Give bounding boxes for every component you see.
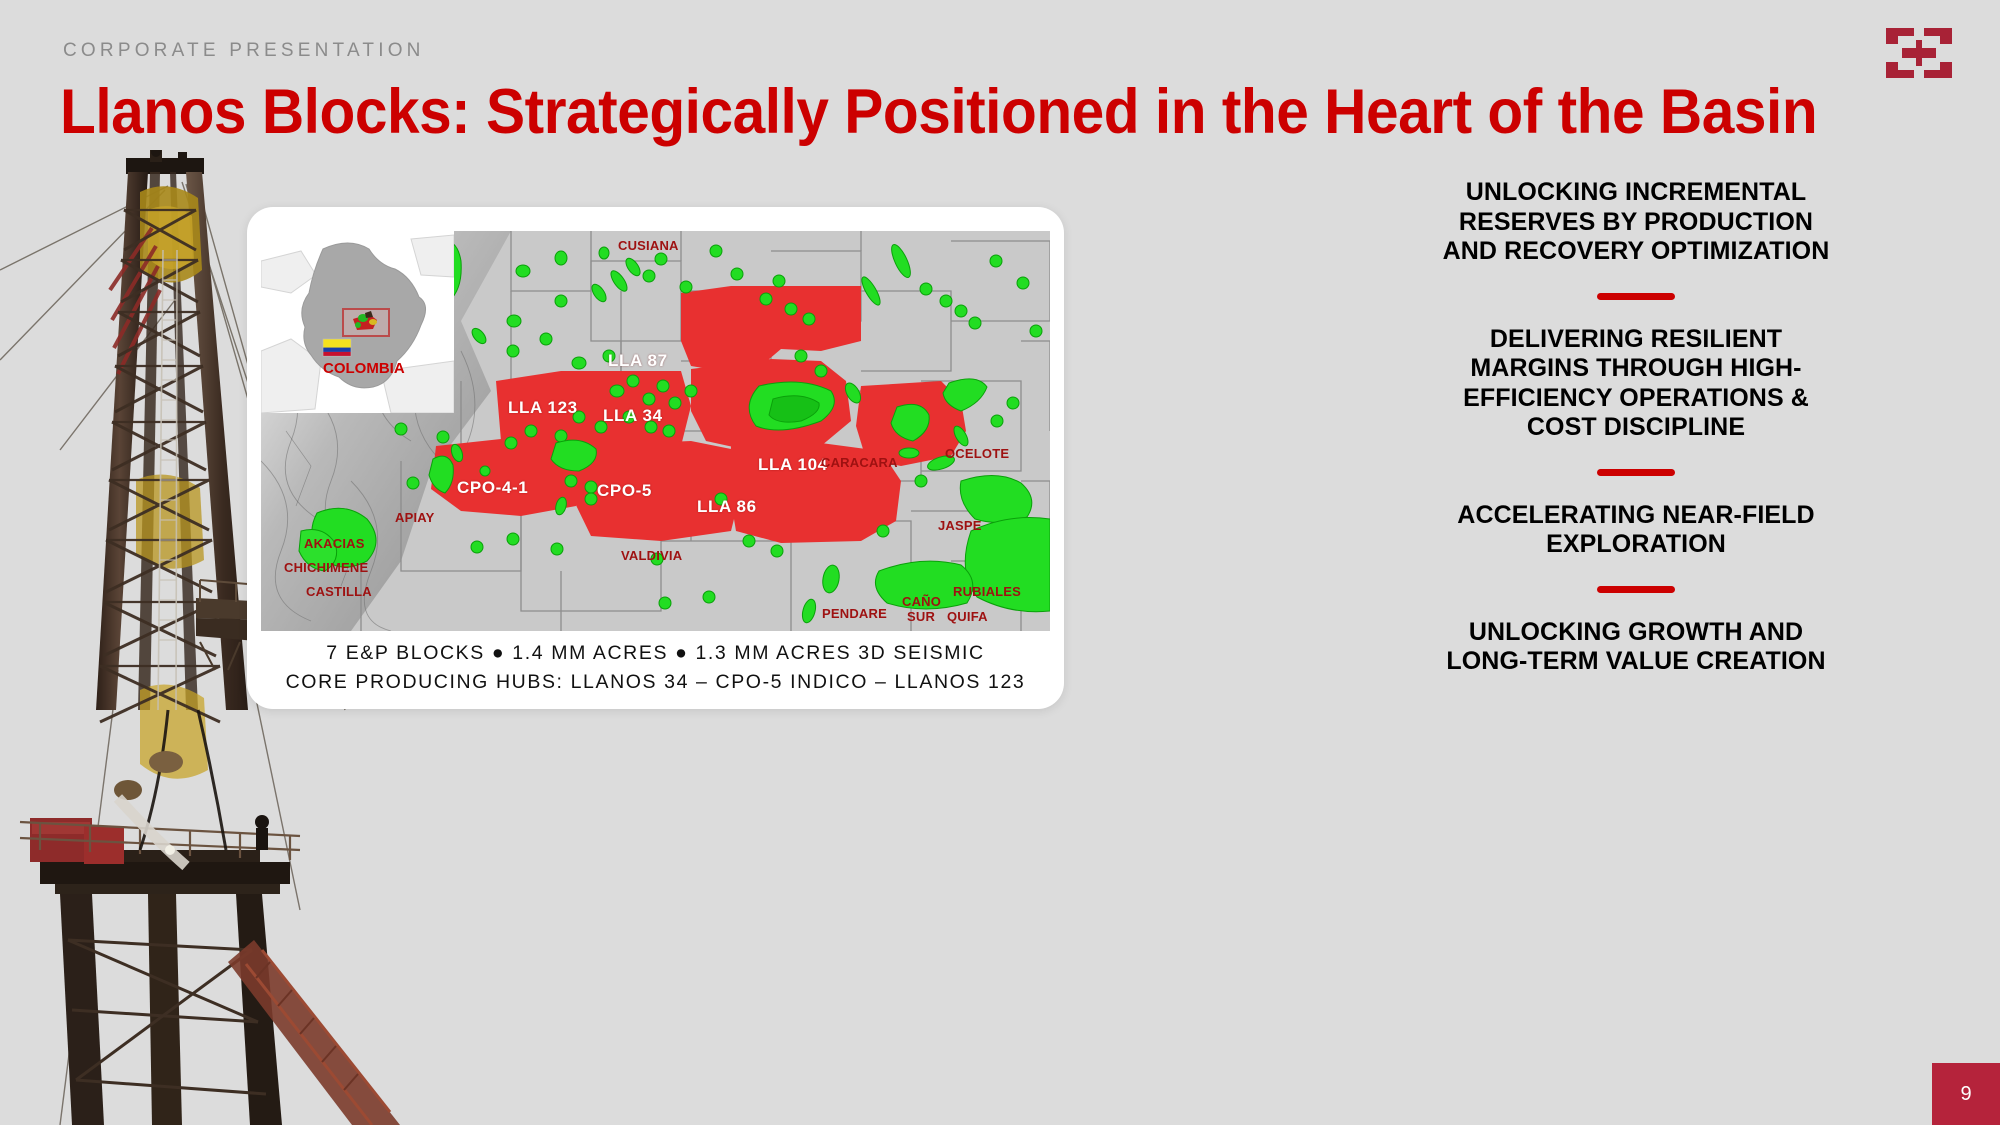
pillar-divider-3 — [1597, 586, 1675, 593]
svg-text:COLOMBIA: COLOMBIA — [323, 360, 405, 377]
pillar-3-text: ACCELERATING NEAR-FIELD EXPLORATION — [1440, 501, 1832, 560]
pillar-4-text: UNLOCKING GROWTH AND LONG-TERM VALUE CRE… — [1440, 618, 1832, 677]
page-number-badge: 9 — [1932, 1063, 2000, 1125]
pillar-2-text: DELIVERING RESILIENT MARGINS THROUGH HIG… — [1440, 325, 1832, 443]
pillar-divider-2 — [1597, 469, 1675, 476]
eyebrow-label: CORPORATE PRESENTATION — [63, 40, 425, 62]
slide-root: CORPORATE PRESENTATION Llanos Blocks: St… — [0, 0, 2000, 1125]
colombia-flag-icon — [323, 339, 351, 356]
pillar-divider-1 — [1597, 293, 1675, 300]
map-card: COLOMBIA LLA 87 LLA 123 LLA 34 LLA 104 C… — [247, 207, 1064, 709]
map-caption: 7 E&P BLOCKS ● 1.4 MM ACRES ● 1.3 MM ACR… — [247, 639, 1064, 697]
value-pillars-column: UNLOCKING INCREMENTAL RESERVES BY PRODUC… — [1440, 178, 1832, 677]
parex-cross-logo-icon — [1886, 28, 1952, 78]
map-caption-line-1: 7 E&P BLOCKS ● 1.4 MM ACRES ● 1.3 MM ACR… — [247, 639, 1064, 668]
page-title: Llanos Blocks: Strategically Positioned … — [60, 76, 1817, 148]
colombia-inset-map: COLOMBIA — [261, 231, 454, 413]
llanos-basin-map[interactable]: COLOMBIA LLA 87 LLA 123 LLA 34 LLA 104 C… — [261, 231, 1050, 631]
map-caption-line-2: CORE PRODUCING HUBS: LLANOS 34 – CPO-5 I… — [247, 668, 1064, 697]
pillar-1-text: UNLOCKING INCREMENTAL RESERVES BY PRODUC… — [1440, 178, 1832, 267]
